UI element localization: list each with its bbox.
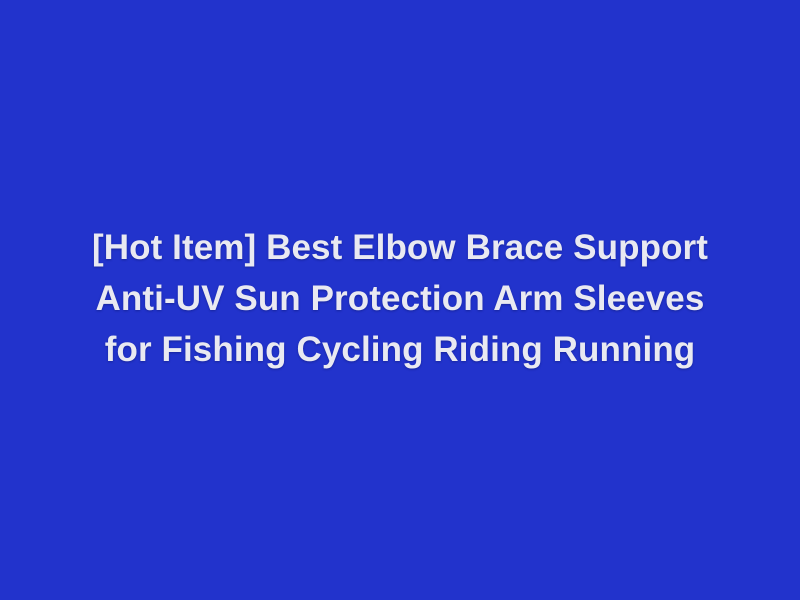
product-title-line-3: for Fishing Cycling Riding Running bbox=[20, 324, 780, 375]
product-title-line-2: Anti-UV Sun Protection Arm Sleeves bbox=[20, 273, 780, 324]
product-title-line-1: [Hot Item] Best Elbow Brace Support bbox=[20, 222, 780, 273]
product-title-card: [Hot Item] Best Elbow Brace Support Anti… bbox=[0, 0, 800, 600]
page-title: [Hot Item] Best Elbow Brace Support Anti… bbox=[20, 222, 780, 375]
